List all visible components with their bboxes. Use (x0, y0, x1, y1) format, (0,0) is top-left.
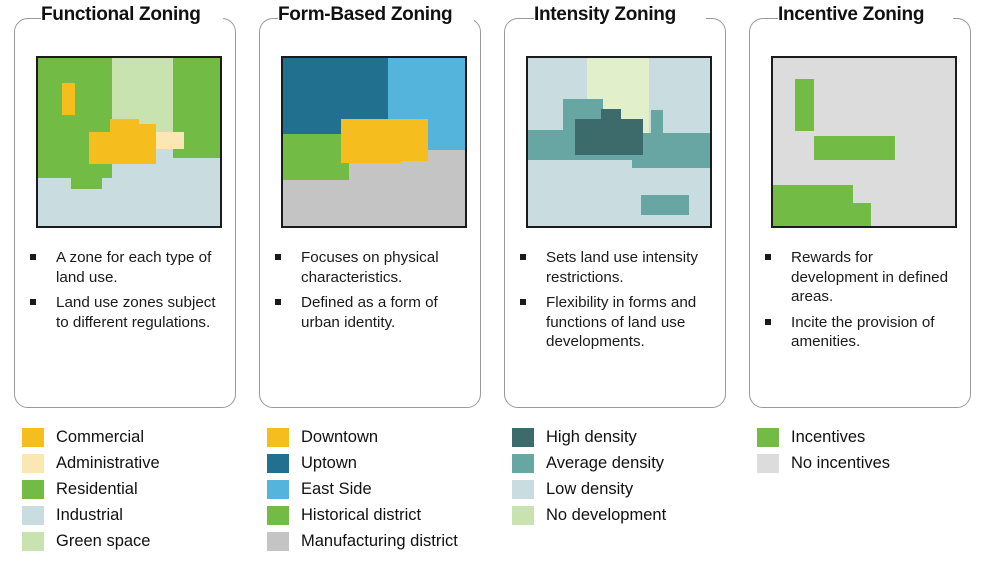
high-density-core (575, 119, 643, 155)
legend-label: Industrial (56, 506, 123, 525)
legend-label: Average density (546, 454, 664, 473)
legend-row: Low density (512, 476, 744, 502)
legend-swatch (22, 454, 44, 473)
panel-form-based-zoning: Form-Based Zoning Focuses on physical ch… (253, 0, 498, 586)
legend-row: East Side (267, 476, 499, 502)
legend-swatch (757, 454, 779, 473)
panel-title-form-based-zoning: Form-Based Zoning (278, 4, 452, 26)
legend-row: Manufacturing district (267, 528, 499, 554)
legend-label: Commercial (56, 428, 144, 447)
bullet-item: Land use zones subject to different regu… (22, 293, 222, 332)
legend-swatch (22, 428, 44, 447)
historical-district (283, 134, 349, 180)
bullet-square-icon (275, 254, 281, 260)
legend-label: Administrative (56, 454, 160, 473)
industrial-south (38, 178, 220, 228)
legend-swatch (267, 480, 289, 499)
legend-swatch (512, 454, 534, 473)
average-density-column (651, 110, 663, 138)
legend-row: Commercial (22, 424, 254, 450)
map-incentive-zoning (771, 56, 957, 228)
bullet-item: Defined as a form of urban identity. (267, 293, 467, 332)
legend-functional-zoning: CommercialAdministrativeResidentialIndus… (22, 424, 254, 554)
legend-swatch (267, 506, 289, 525)
legend-label: Green space (56, 532, 150, 551)
commercial-block-upper (110, 119, 139, 133)
legend-row: No development (512, 502, 744, 528)
legend-label: Residential (56, 480, 138, 499)
commercial-strip (62, 83, 75, 115)
bullet-list-form-based-zoning: Focuses on physical characteristics.Defi… (267, 248, 467, 338)
legend-row: Green space (22, 528, 254, 554)
legend-swatch (22, 532, 44, 551)
bullet-square-icon (765, 254, 771, 260)
bullet-text: Sets land use intensity restrictions. (546, 249, 698, 286)
bullet-text: Incite the provision of amenities. (791, 314, 935, 351)
bullet-square-icon (765, 319, 771, 325)
legend-label: No development (546, 506, 666, 525)
incentive-block-corner (773, 185, 853, 228)
average-density-right (632, 133, 710, 168)
legend-row: Incentives (757, 424, 989, 450)
legend-swatch (512, 428, 534, 447)
panel-incentive-zoning: Incentive Zoning Rewards for development… (743, 0, 988, 586)
bullet-item: Focuses on physical characteristics. (267, 248, 467, 287)
incentive-block-corner-step (853, 203, 871, 228)
legend-intensity-zoning: High densityAverage densityLow densityNo… (512, 424, 744, 528)
legend-label: Historical district (301, 506, 421, 525)
bullet-square-icon (30, 299, 36, 305)
bullet-text: Defined as a form of urban identity. (301, 294, 438, 331)
map-functional-zoning (36, 56, 222, 228)
legend-label: Incentives (791, 428, 865, 447)
bullet-list-incentive-zoning: Rewards for development in defined areas… (757, 248, 957, 358)
legend-row: High density (512, 424, 744, 450)
bullet-item: Sets land use intensity restrictions. (512, 248, 712, 287)
legend-label: No incentives (791, 454, 890, 473)
legend-label: Downtown (301, 428, 378, 447)
bullet-item: Incite the provision of amenities. (757, 313, 957, 352)
legend-row: Average density (512, 450, 744, 476)
legend-label: Uptown (301, 454, 357, 473)
panel-intensity-zoning: Intensity Zoning Sets land use intensity… (498, 0, 743, 586)
panel-functional-zoning: Functional Zoning A zone for each type o… (8, 0, 253, 586)
commercial-block-right (139, 124, 156, 164)
legend-swatch (512, 506, 534, 525)
legend-row: Uptown (267, 450, 499, 476)
legend-row: Industrial (22, 502, 254, 528)
bullet-list-functional-zoning: A zone for each type of land use.Land us… (22, 248, 222, 338)
legend-row: No incentives (757, 450, 989, 476)
legend-form-based-zoning: DowntownUptownEast SideHistorical distri… (267, 424, 499, 554)
bullet-text: Flexibility in forms and functions of la… (546, 294, 696, 350)
bullet-square-icon (275, 299, 281, 305)
legend-row: Residential (22, 476, 254, 502)
legend-label: High density (546, 428, 637, 447)
bullet-text: Rewards for development in defined areas… (791, 249, 948, 305)
incentive-block-horizontal (814, 136, 895, 160)
bullet-square-icon (520, 254, 526, 260)
legend-label: Manufacturing district (301, 532, 458, 551)
bullet-text: Focuses on physical characteristics. (301, 249, 439, 286)
legend-swatch (22, 506, 44, 525)
legend-swatch (267, 454, 289, 473)
bullet-item: A zone for each type of land use. (22, 248, 222, 287)
panel-title-functional-zoning: Functional Zoning (41, 4, 201, 26)
legend-label: East Side (301, 480, 372, 499)
bullet-item: Rewards for development in defined areas… (757, 248, 957, 307)
manufacturing-district (283, 180, 465, 228)
high-density-top (601, 109, 621, 121)
legend-incentive-zoning: IncentivesNo incentives (757, 424, 989, 476)
bullet-square-icon (520, 299, 526, 305)
legend-swatch (267, 428, 289, 447)
bullet-text: A zone for each type of land use. (56, 249, 211, 286)
legend-label: Low density (546, 480, 633, 499)
bullet-text: Land use zones subject to different regu… (56, 294, 216, 331)
legend-row: Administrative (22, 450, 254, 476)
downtown-block-lower (341, 119, 401, 163)
zoning-types-infographic: Functional Zoning A zone for each type o… (0, 0, 1000, 586)
legend-row: Historical district (267, 502, 499, 528)
legend-swatch (22, 480, 44, 499)
bullet-list-intensity-zoning: Sets land use intensity restrictions.Fle… (512, 248, 712, 358)
legend-swatch (757, 428, 779, 447)
panel-title-incentive-zoning: Incentive Zoning (778, 4, 924, 26)
map-intensity-zoning (526, 56, 712, 228)
bullet-square-icon (30, 254, 36, 260)
bullet-item: Flexibility in forms and functions of la… (512, 293, 712, 352)
map-form-based-zoning (281, 56, 467, 228)
residential-notch (71, 166, 102, 189)
incentive-block-vertical (795, 79, 814, 131)
legend-swatch (267, 532, 289, 551)
legend-row: Downtown (267, 424, 499, 450)
average-density-island (641, 195, 689, 215)
legend-swatch (512, 480, 534, 499)
administrative-block (156, 132, 184, 149)
panel-title-intensity-zoning: Intensity Zoning (534, 4, 676, 26)
